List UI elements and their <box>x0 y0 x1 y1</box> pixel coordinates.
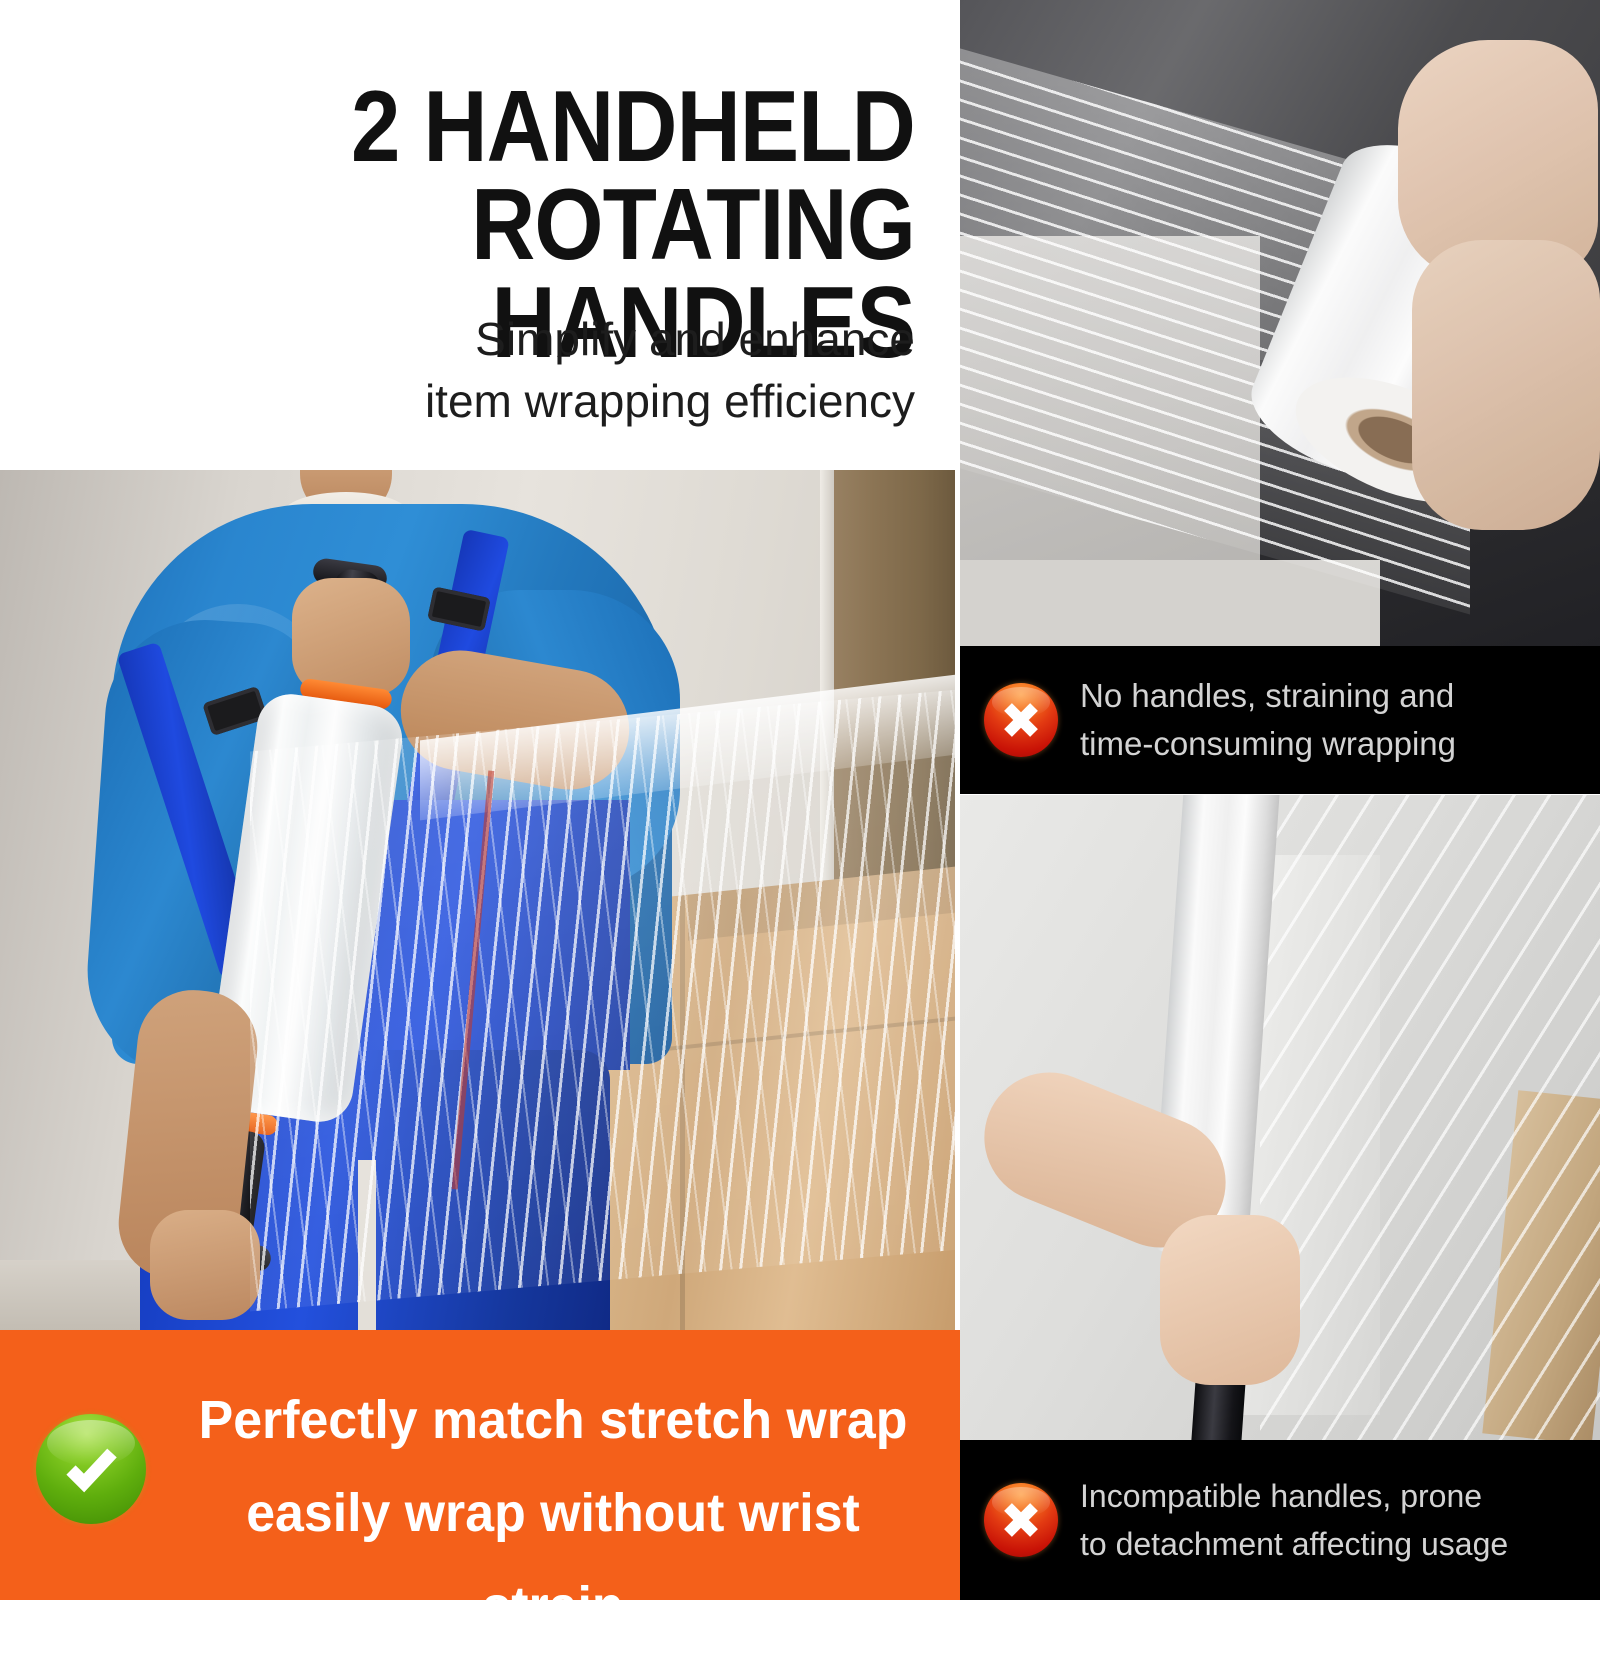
caption-text: No handles, straining and time-consuming… <box>1080 672 1456 768</box>
no-handles-photo <box>960 0 1600 646</box>
benefit-banner: Perfectly match stretch wrap easily wrap… <box>0 1330 960 1600</box>
caption-text: Incompatible handles, prone to detachmen… <box>1080 1472 1508 1568</box>
worker-left-hand <box>150 1210 260 1320</box>
product-infographic: 2 HANDHELD ROTATING HANDLES Simplify and… <box>0 0 1600 1600</box>
page-subtitle: Simplify and enhance item wrapping effic… <box>0 308 915 432</box>
incompatible-handles-photo <box>960 795 1600 1440</box>
red-x-badge-icon <box>984 683 1058 757</box>
header-panel: 2 HANDHELD ROTATING HANDLES Simplify and… <box>0 0 955 470</box>
stretched-film-sheet <box>250 689 955 1312</box>
caption-bar-no-handles: No handles, straining and time-consuming… <box>960 646 1600 794</box>
desaturation-overlay <box>960 0 1600 646</box>
benefit-banner-text: Perfectly match stretch wrap easily wrap… <box>183 1374 922 1653</box>
person-hand <box>1160 1215 1300 1385</box>
green-check-badge-icon <box>36 1414 146 1524</box>
caption-bar-incompatible: Incompatible handles, prone to detachmen… <box>960 1440 1600 1600</box>
main-product-photo <box>0 470 955 1330</box>
film-sheet <box>1260 795 1600 1440</box>
red-x-badge-icon <box>984 1483 1058 1557</box>
